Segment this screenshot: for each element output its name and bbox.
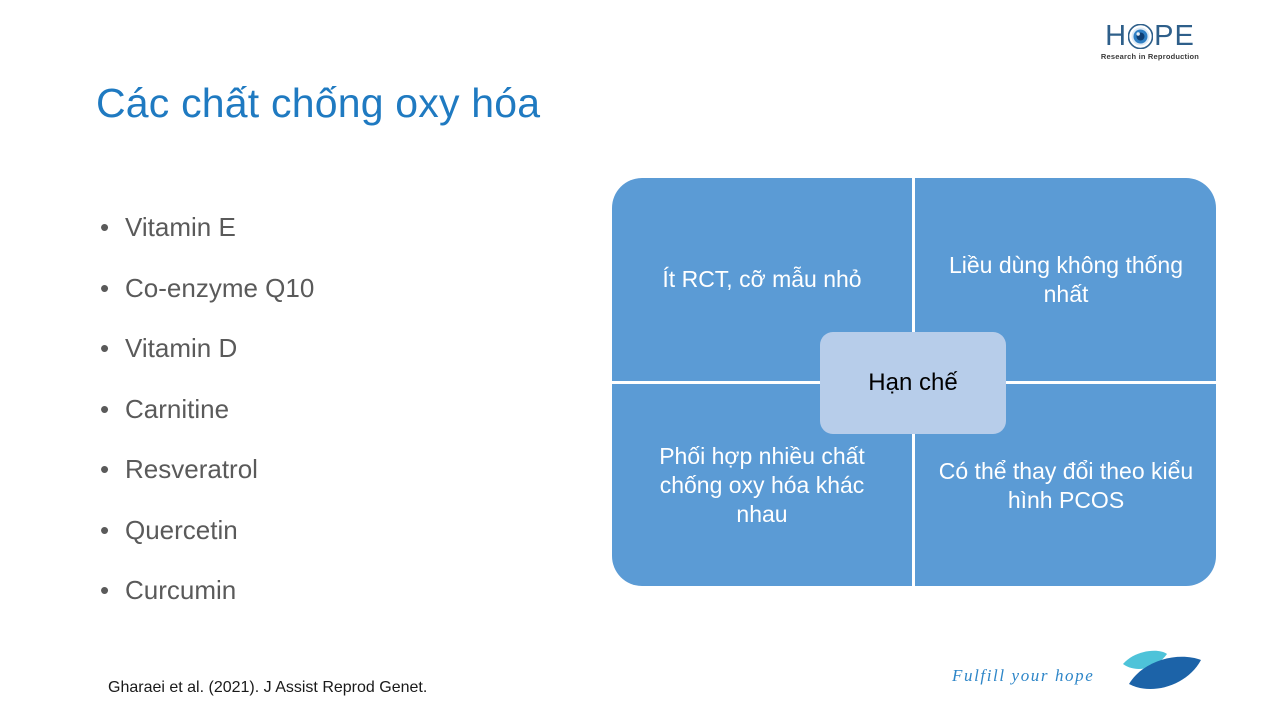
quadrant-bottom-left-label: Phối hợp nhiều chất chống oxy hóa khác n… — [634, 442, 890, 529]
list-item-label: Carnitine — [125, 394, 229, 424]
bullet-dot-icon: • — [100, 560, 109, 621]
hope-logo: H PE Research in Reproduction — [1090, 22, 1210, 68]
list-item: • Co-enzyme Q10 — [96, 258, 566, 319]
bullet-dot-icon: • — [100, 500, 109, 561]
bullet-dot-icon: • — [100, 258, 109, 319]
list-item-label: Curcumin — [125, 575, 236, 605]
list-item-label: Resveratrol — [125, 454, 258, 484]
list-item: • Quercetin — [96, 500, 566, 561]
bullet-dot-icon: • — [100, 379, 109, 440]
limitations-quadrant-diagram: Ít RCT, cỡ mẫu nhỏ Liều dùng không thống… — [612, 178, 1216, 586]
citation-text: Gharaei et al. (2021). J Assist Reprod G… — [108, 679, 427, 697]
bullet-dot-icon: • — [100, 318, 109, 379]
hope-eye-icon — [1128, 24, 1153, 49]
list-item-label: Quercetin — [125, 515, 238, 545]
hope-wordmark: H PE — [1090, 22, 1210, 50]
footer-logo: Fulfill your hope — [952, 650, 1202, 708]
bullet-dot-icon: • — [100, 197, 109, 258]
list-item: • Vitamin E — [96, 197, 566, 258]
list-item: • Curcumin — [96, 560, 566, 621]
hope-logo-letters-after: PE — [1154, 22, 1195, 51]
quadrant-top-right-label: Liều dùng không thống nhất — [938, 251, 1194, 309]
page-title: Các chất chống oxy hóa — [96, 80, 540, 127]
antioxidant-list: • Vitamin E • Co-enzyme Q10 • Vitamin D … — [96, 197, 566, 621]
quadrant-bottom-right-label: Có thể thay đổi theo kiểu hình PCOS — [938, 457, 1194, 515]
list-item: • Resveratrol — [96, 439, 566, 500]
slide-canvas: H PE Research in Reproduction Các chất c… — [0, 0, 1280, 720]
list-item-label: Co-enzyme Q10 — [125, 273, 314, 303]
bullet-dot-icon: • — [100, 439, 109, 500]
footer-logo-tagline: Fulfill your hope — [952, 666, 1094, 686]
list-item-label: Vitamin D — [125, 333, 237, 363]
quadrant-center-label: Hạn chế — [868, 369, 957, 397]
hope-logo-letters-before: H — [1105, 22, 1127, 51]
hope-leaf-icon — [1115, 648, 1207, 696]
list-item: • Carnitine — [96, 379, 566, 440]
list-item: • Vitamin D — [96, 318, 566, 379]
list-item-label: Vitamin E — [125, 212, 236, 242]
quadrant-center-label-box: Hạn chế — [820, 332, 1006, 434]
hope-logo-tagline: Research in Reproduction — [1090, 52, 1210, 61]
quadrant-top-left-label: Ít RCT, cỡ mẫu nhỏ — [662, 265, 861, 294]
